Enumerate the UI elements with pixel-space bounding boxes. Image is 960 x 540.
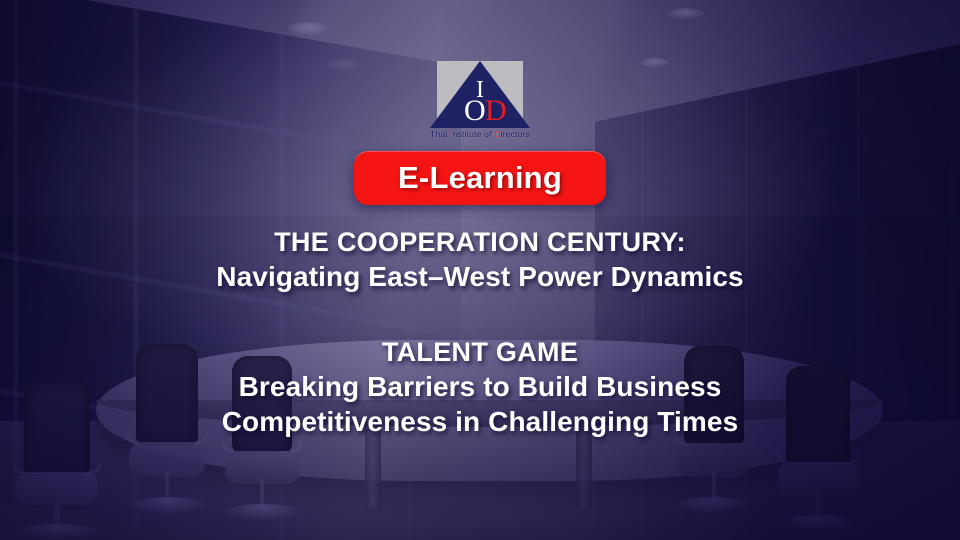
course-title-block-2: TALENT GAME Breaking Barriers to Build B… bbox=[0, 336, 960, 439]
e-learning-badge-label: E-Learning bbox=[398, 160, 562, 196]
course-1-subheading: Navigating East–West Power Dynamics bbox=[0, 259, 960, 294]
logo-caption-mid2: irectors bbox=[500, 129, 529, 139]
slide-content: I O D Thai Institute of Directors E-Lear… bbox=[0, 0, 960, 540]
logo-letter-d: D bbox=[485, 96, 507, 126]
elearning-title-slide: I O D Thai Institute of Directors E-Lear… bbox=[0, 0, 960, 540]
title-group: THE COOPERATION CENTURY: Navigating East… bbox=[0, 226, 960, 440]
logo-caption: Thai Institute of Directors bbox=[430, 129, 530, 139]
course-2-subheading-line-1: Breaking Barriers to Build Business bbox=[0, 369, 960, 404]
e-learning-badge[interactable]: E-Learning bbox=[354, 151, 606, 205]
course-title-block-1: THE COOPERATION CENTURY: Navigating East… bbox=[0, 226, 960, 294]
course-2-subheading-line-2: Competitiveness in Challenging Times bbox=[0, 404, 960, 439]
logo-caption-prefix: Thai bbox=[430, 129, 450, 139]
iod-logo: I O D Thai Institute of Directors bbox=[430, 58, 530, 140]
logo-caption-mid1: nstitute of bbox=[453, 129, 495, 139]
logo-letter-o: O bbox=[464, 96, 486, 126]
course-2-heading: TALENT GAME bbox=[0, 336, 960, 369]
course-1-heading: THE COOPERATION CENTURY: bbox=[0, 226, 960, 259]
